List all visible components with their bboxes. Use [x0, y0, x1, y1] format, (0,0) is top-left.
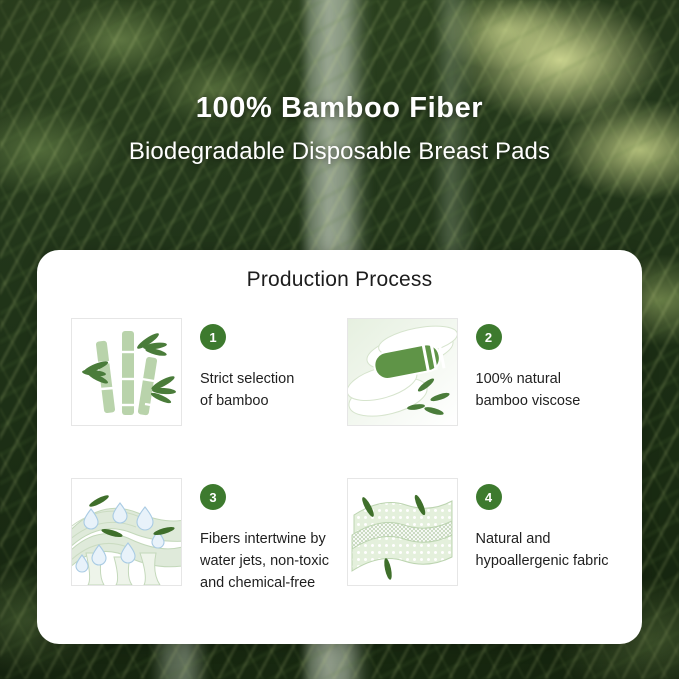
step-item-3: 3 Fibers intertwine by water jets, non-t… [71, 478, 347, 594]
water-jet-fibers-illustration [72, 479, 181, 585]
step-item-2: 2 100% natural bamboo viscose [347, 318, 623, 426]
step-1-body: 1 Strict selection of bamboo [200, 318, 294, 412]
fabric-layers-illustration [348, 479, 457, 585]
steps-grid: 1 Strict selection of bamboo [71, 318, 622, 594]
infographic-root: 100% Bamboo Fiber Biodegradable Disposab… [0, 0, 679, 679]
step-2-body: 2 100% natural bamboo viscose [476, 318, 581, 412]
step-3-thumbnail [71, 478, 182, 586]
hero-text-block: 100% Bamboo Fiber Biodegradable Disposab… [0, 92, 679, 166]
production-process-card: Production Process [37, 250, 642, 644]
step-4-text: Natural and hypoallergenic fabric [476, 528, 609, 572]
step-1-thumbnail [71, 318, 182, 426]
step-1-text: Strict selection of bamboo [200, 368, 294, 412]
card-title: Production Process [37, 250, 642, 292]
step-item-1: 1 Strict selection of bamboo [71, 318, 347, 426]
hero-subtitle: Biodegradable Disposable Breast Pads [0, 138, 679, 166]
hero-title: 100% Bamboo Fiber [0, 92, 679, 125]
bamboo-viscose-illustration [348, 319, 457, 425]
step-4-thumbnail [347, 478, 458, 586]
step-3-text: Fibers intertwine by water jets, non-tox… [200, 528, 329, 594]
step-item-4: 4 Natural and hypoallergenic fabric [347, 478, 623, 594]
step-2-badge: 2 [476, 324, 502, 350]
step-1-badge: 1 [200, 324, 226, 350]
step-4-body: 4 Natural and hypoallergenic fabric [476, 478, 609, 572]
step-3-body: 3 Fibers intertwine by water jets, non-t… [200, 478, 329, 594]
bamboo-stalks-illustration [72, 319, 181, 425]
step-2-text: 100% natural bamboo viscose [476, 368, 581, 412]
step-3-badge: 3 [200, 484, 226, 510]
step-4-badge: 4 [476, 484, 502, 510]
step-2-thumbnail [347, 318, 458, 426]
